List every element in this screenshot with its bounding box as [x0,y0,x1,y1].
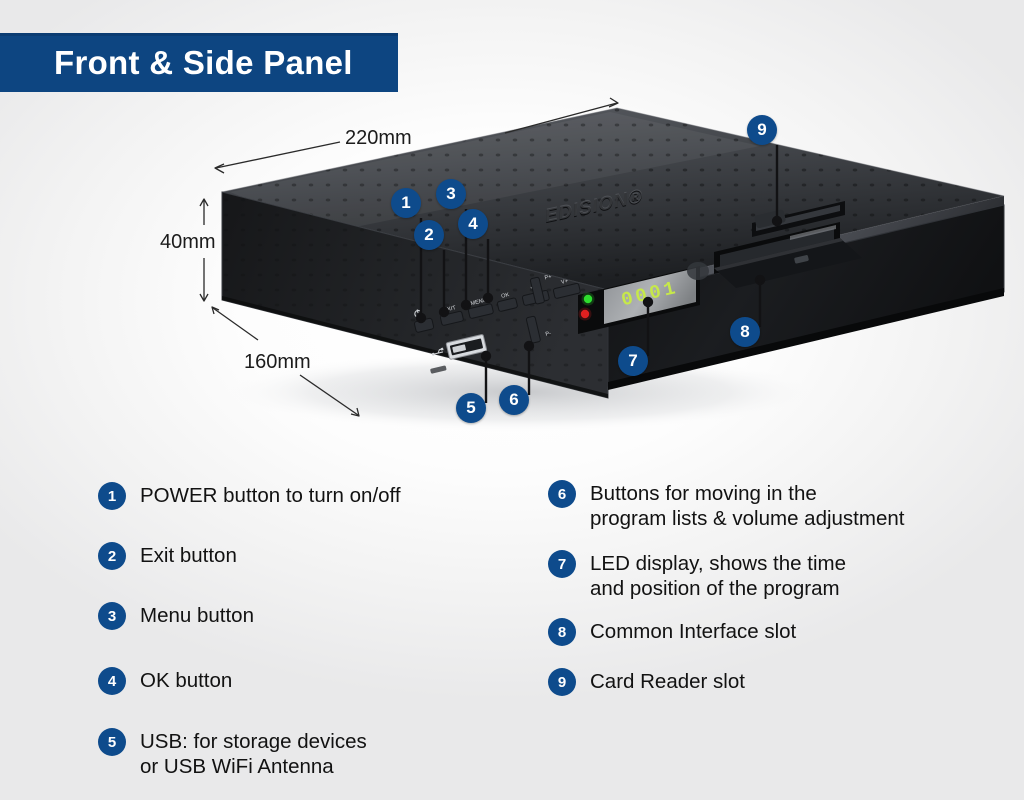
callout-marker-1: 1 [391,188,421,218]
ir-receiver [687,262,709,280]
legend-badge-9: 9 [548,668,576,696]
dimension-label-depth: 160mm [244,351,311,374]
legend-badge-5: 5 [98,728,126,756]
dimension-label-width: 220mm [345,127,412,150]
legend-label-6: Buttons for moving in the program lists … [590,480,904,531]
legend-item-4: 4OK button [98,667,232,695]
legend-badge-8: 8 [548,618,576,646]
legend-item-6: 6Buttons for moving in the program lists… [548,480,904,531]
callout-marker-8: 8 [730,317,760,347]
callout-marker-6: 6 [499,385,529,415]
legend-badge-6: 6 [548,480,576,508]
legend-label-4: OK button [140,667,232,693]
callout-marker-3: 3 [436,179,466,209]
legend: 1POWER button to turn on/off2Exit button… [0,470,1024,800]
legend-item-9: 9Card Reader slot [548,668,745,696]
callout-marker-9: 9 [747,115,777,145]
legend-label-9: Card Reader slot [590,668,745,694]
legend-label-2: Exit button [140,542,237,568]
legend-item-3: 3Menu button [98,602,254,630]
legend-item-5: 5USB: for storage devices or USB WiFi An… [98,728,367,779]
legend-label-8: Common Interface slot [590,618,796,644]
legend-badge-4: 4 [98,667,126,695]
legend-item-1: 1POWER button to turn on/off [98,482,401,510]
legend-label-3: Menu button [140,602,254,628]
legend-label-5: USB: for storage devices or USB WiFi Ant… [140,728,367,779]
callout-marker-7: 7 [618,346,648,376]
legend-badge-2: 2 [98,542,126,570]
callout-marker-5: 5 [456,393,486,423]
legend-badge-3: 3 [98,602,126,630]
dimension-label-height: 40mm [160,231,216,254]
legend-item-2: 2Exit button [98,542,237,570]
callout-marker-2: 2 [414,220,444,250]
page-title: Front & Side Panel [54,44,353,82]
legend-badge-1: 1 [98,482,126,510]
legend-item-7: 7LED display, shows the time and positio… [548,550,846,601]
callout-marker-4: 4 [458,209,488,239]
legend-badge-7: 7 [548,550,576,578]
legend-item-8: 8Common Interface slot [548,618,796,646]
legend-label-1: POWER button to turn on/off [140,482,401,508]
legend-label-7: LED display, shows the time and position… [590,550,846,601]
